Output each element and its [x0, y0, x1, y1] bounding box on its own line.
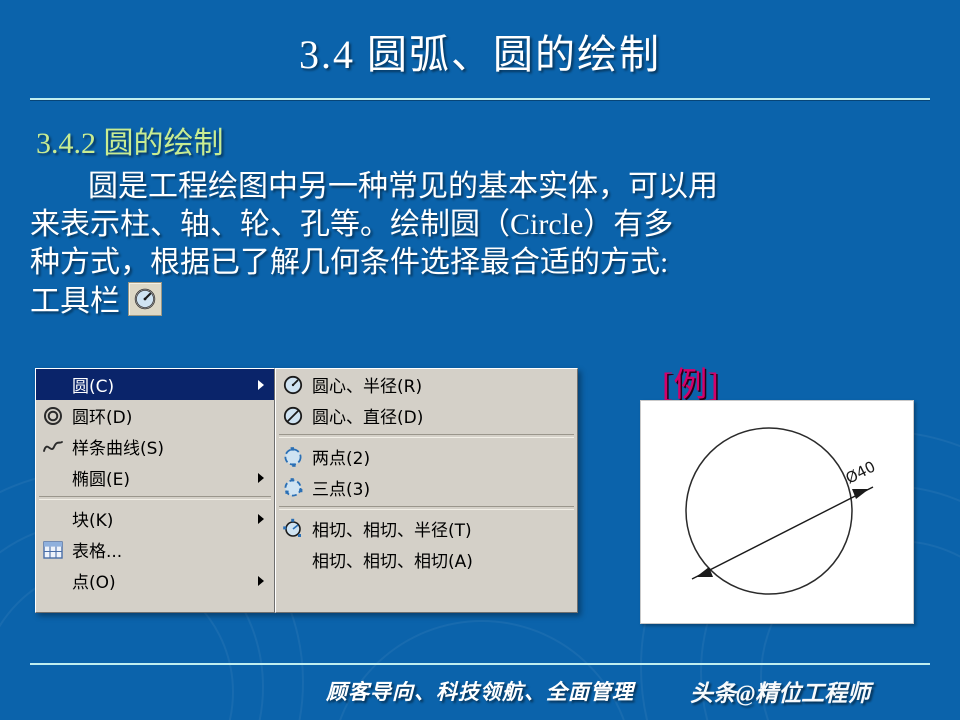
menu-item-label: 圆(C) [66, 372, 258, 397]
example-label: [例] [662, 357, 719, 406]
circle-ttr-icon [280, 518, 306, 540]
menu-item-label: 表格... [66, 537, 270, 562]
menu-separator [39, 496, 271, 500]
menu-item-spline[interactable]: 样条曲线(S) [36, 431, 274, 462]
submenu-separator [279, 506, 574, 510]
draw-menu[interactable]: 圆(C) 圆环(D) 样条曲线(S) 椭圆(E) [35, 368, 275, 613]
menu-item-label: 块(K) [66, 506, 258, 531]
menu-item-donut[interactable]: 圆环(D) [36, 400, 274, 431]
footer-divider [30, 663, 930, 665]
page-title: 3.4 圆弧、圆的绘制 [0, 22, 960, 80]
menu-item-label: 样条曲线(S) [66, 434, 270, 459]
menu-item-circle[interactable]: 圆(C) [36, 369, 274, 400]
section-subtitle: 3.4.2 圆的绘制 [36, 118, 224, 162]
menu-item-label: 椭圆(E) [66, 465, 258, 490]
submenu-item-two-point[interactable]: 两点(2) [276, 441, 577, 472]
submenu-item-label: 两点(2) [306, 444, 573, 469]
spline-icon [40, 436, 66, 458]
submenu-item-label: 相切、相切、相切(A) [306, 547, 573, 572]
submenu-item-label: 圆心、半径(R) [306, 372, 573, 397]
circle-submenu[interactable]: 圆心、半径(R) 圆心、直径(D) 两点(2) [275, 368, 578, 613]
chevron-right-icon [258, 473, 264, 483]
draw-menu-container[interactable]: 圆(C) 圆环(D) 样条曲线(S) 椭圆(E) [35, 368, 578, 613]
circle-center-radius-icon [280, 374, 306, 396]
toolbar-line: 工具栏 [30, 282, 935, 321]
menu-item-ellipse[interactable]: 椭圆(E) [36, 462, 274, 493]
submenu-item-label: 相切、相切、半径(T) [306, 516, 573, 541]
none-icon [40, 467, 66, 489]
body-line-1: 圆是工程绘图中另一种常见的基本实体，可以用 [30, 168, 935, 206]
body-paragraph: 圆是工程绘图中另一种常见的基本实体，可以用 来表示柱、轴、轮、孔等。绘制圆（Ci… [30, 168, 935, 321]
dimension-text: Ø40 [843, 457, 879, 487]
toolbar-label: 工具栏 [30, 285, 120, 318]
donut-icon [40, 405, 66, 427]
none-icon [40, 570, 66, 592]
menu-item-table[interactable]: 表格... [36, 534, 274, 565]
submenu-item-tangent-tangent-tangent[interactable]: 相切、相切、相切(A) [276, 544, 577, 575]
submenu-item-center-diameter[interactable]: 圆心、直径(D) [276, 400, 577, 431]
menu-item-block[interactable]: 块(K) [36, 503, 274, 534]
chevron-right-icon [258, 576, 264, 586]
none-icon [280, 549, 306, 571]
submenu-item-tangent-tangent-radius[interactable]: 相切、相切、半径(T) [276, 513, 577, 544]
submenu-item-label: 圆心、直径(D) [306, 403, 573, 428]
circle-center-radius-icon[interactable] [128, 282, 162, 316]
watermark-text: 头条@精位工程师 [690, 674, 870, 708]
chevron-right-icon [258, 514, 264, 524]
none-icon [40, 374, 66, 396]
body-line-3: 种方式，根据已了解几何条件选择最合适的方式: [30, 244, 935, 282]
chevron-right-icon [258, 380, 264, 390]
menu-item-label: 点(O) [66, 568, 258, 593]
none-icon [40, 508, 66, 530]
circle-3point-icon [280, 477, 306, 499]
circle-center-diameter-icon [280, 405, 306, 427]
circle-2point-icon [280, 446, 306, 468]
body-line-2: 来表示柱、轴、轮、孔等。绘制圆（Circle）有多 [30, 206, 935, 244]
menu-item-point[interactable]: 点(O) [36, 565, 274, 596]
example-figure: Ø40 [640, 400, 914, 624]
title-divider [30, 98, 930, 100]
table-icon [40, 539, 66, 561]
submenu-separator [279, 434, 574, 438]
submenu-item-label: 三点(3) [306, 475, 573, 500]
menu-item-label: 圆环(D) [66, 403, 270, 428]
submenu-item-center-radius[interactable]: 圆心、半径(R) [276, 369, 577, 400]
submenu-item-three-point[interactable]: 三点(3) [276, 472, 577, 503]
